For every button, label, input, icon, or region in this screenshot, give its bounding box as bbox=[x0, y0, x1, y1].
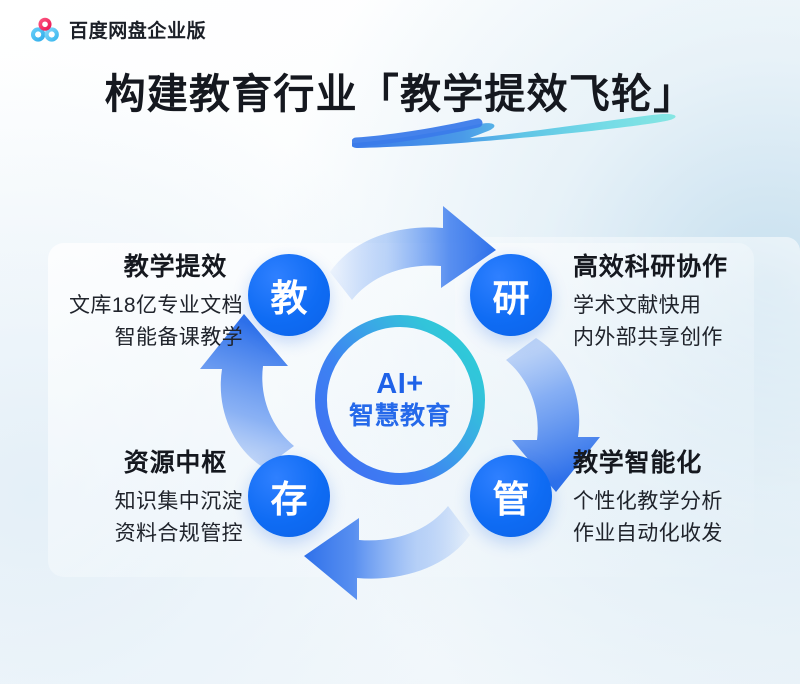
flywheel-node-jiao[interactable]: 教 bbox=[248, 254, 330, 336]
flywheel-node-yan-label: 研 bbox=[493, 268, 530, 322]
quadrant-top-left-title: 教学提效 bbox=[0, 252, 245, 283]
quadrant-top-left-line1: 文库18亿专业文档 bbox=[0, 290, 245, 322]
quadrant-bottom-right-title: 教学智能化 bbox=[573, 448, 800, 479]
hub-primary-label: AI+ bbox=[376, 369, 423, 399]
quadrant-bottom-right-line1: 个性化教学分析 bbox=[573, 486, 800, 518]
quadrant-bottom-right-line2: 作业自动化收发 bbox=[573, 518, 800, 550]
flywheel-node-yan[interactable]: 研 bbox=[470, 254, 552, 336]
quadrant-top-right-title: 高效科研协作 bbox=[573, 252, 800, 283]
flywheel-node-cun[interactable]: 存 bbox=[248, 455, 330, 537]
quadrant-bottom-left-title: 资源中枢 bbox=[0, 448, 245, 479]
quadrant-bottom-left-line2: 资料合规管控 bbox=[0, 518, 245, 550]
quadrant-bottom-left-line1: 知识集中沉淀 bbox=[0, 486, 245, 518]
quadrant-top-left-line2: 智能备课教学 bbox=[0, 322, 245, 354]
flywheel-node-guan[interactable]: 管 bbox=[470, 455, 552, 537]
hub-label: AI+ 智慧教育 bbox=[322, 322, 478, 478]
flywheel-node-jiao-label: 教 bbox=[271, 268, 308, 322]
flywheel-node-cun-label: 存 bbox=[271, 469, 308, 523]
quadrant-top-right-line1: 学术文献快用 bbox=[573, 290, 800, 322]
hub-secondary-label: 智慧教育 bbox=[349, 402, 451, 431]
quadrant-top-left: 教学提效 文库18亿专业文档 智能备课教学 bbox=[0, 252, 245, 353]
quadrant-top-right: 高效科研协作 学术文献快用 内外部共享创作 bbox=[573, 252, 800, 353]
quadrant-bottom-right: 教学智能化 个性化教学分析 作业自动化收发 bbox=[573, 448, 800, 549]
curved-arrow-left-icon bbox=[304, 506, 470, 600]
infographic-canvas: 百度网盘企业版 构建教育行业「教学提效飞轮」 bbox=[0, 0, 800, 684]
flywheel-node-guan-label: 管 bbox=[493, 469, 530, 523]
quadrant-bottom-left: 资源中枢 知识集中沉淀 资料合规管控 bbox=[0, 448, 245, 549]
quadrant-top-right-line2: 内外部共享创作 bbox=[573, 322, 800, 354]
